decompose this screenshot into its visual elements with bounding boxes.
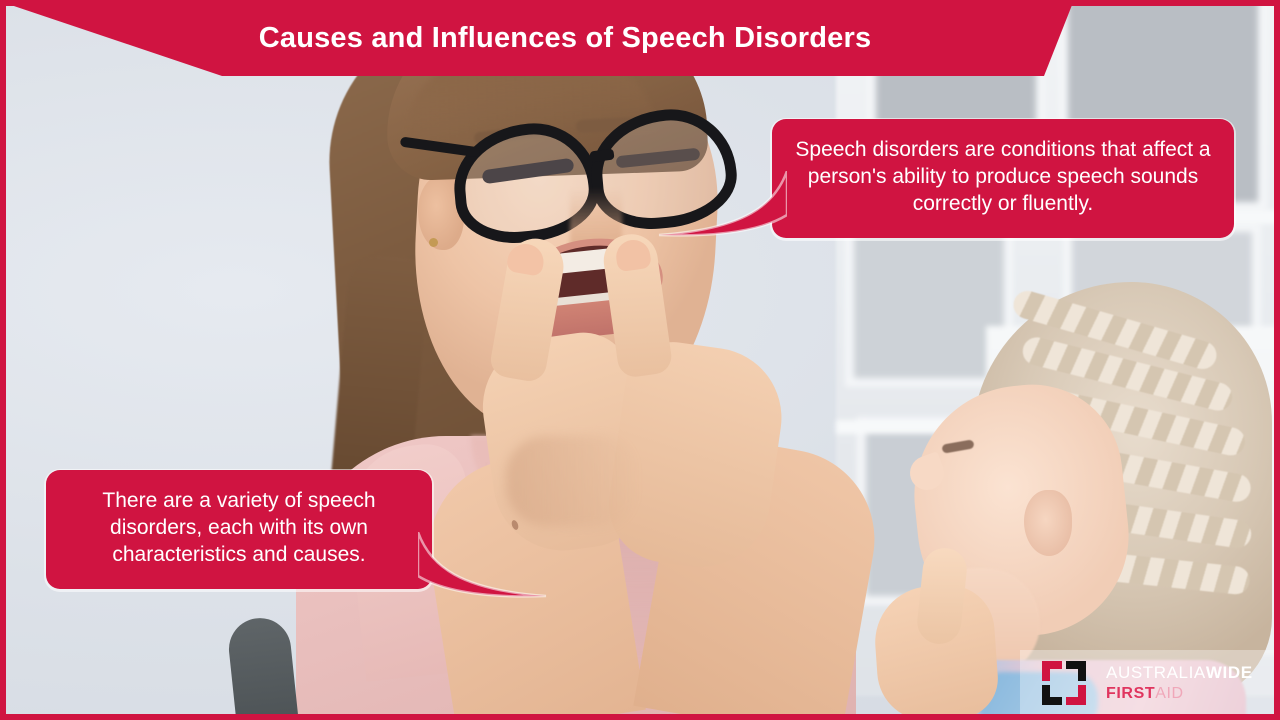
speech-bubble-bottom-left: There are a variety of speech disorders,… [46, 470, 432, 589]
cross-quadrant-bottom-left [1042, 685, 1062, 705]
background-photograph [6, 6, 1274, 714]
therapist-earring [429, 238, 438, 247]
header-banner: Causes and Influences of Speech Disorder… [6, 6, 1074, 76]
cross-quadrant-top-right [1066, 661, 1086, 681]
page-title: Causes and Influences of Speech Disorder… [259, 22, 872, 55]
child-patient-figure [886, 268, 1274, 714]
brand-tagline-part1: FIRST [1106, 685, 1155, 702]
speech-bubble-text: Speech disorders are conditions that aff… [795, 138, 1210, 215]
brand-tagline-part2: AID [1155, 685, 1183, 702]
poster-frame: Causes and Influences of Speech Disorder… [0, 0, 1280, 720]
cross-logo-mark-icon [1042, 661, 1086, 705]
brand-logo-text: AUSTRALIAWIDE FIRSTAID [1106, 663, 1253, 703]
brand-name: AUSTRALIAWIDE [1106, 663, 1253, 683]
cross-quadrant-top-left [1042, 661, 1062, 681]
cross-quadrant-bottom-right [1066, 685, 1086, 705]
child-ear [1024, 490, 1072, 556]
therapist-knuckles-shading [506, 436, 638, 526]
speech-therapist-figure [186, 6, 826, 714]
brand-name-part1: AUSTRALIA [1106, 663, 1206, 682]
poster-canvas: Causes and Influences of Speech Disorder… [6, 6, 1274, 714]
speech-bubble-text: There are a variety of speech disorders,… [102, 489, 375, 566]
brand-tagline: FIRSTAID [1106, 685, 1253, 703]
brand-name-part2: WIDE [1206, 663, 1253, 682]
speech-bubble-top-right: Speech disorders are conditions that aff… [772, 119, 1234, 238]
brand-logo[interactable]: AUSTRALIAWIDE FIRSTAID [1020, 650, 1274, 714]
